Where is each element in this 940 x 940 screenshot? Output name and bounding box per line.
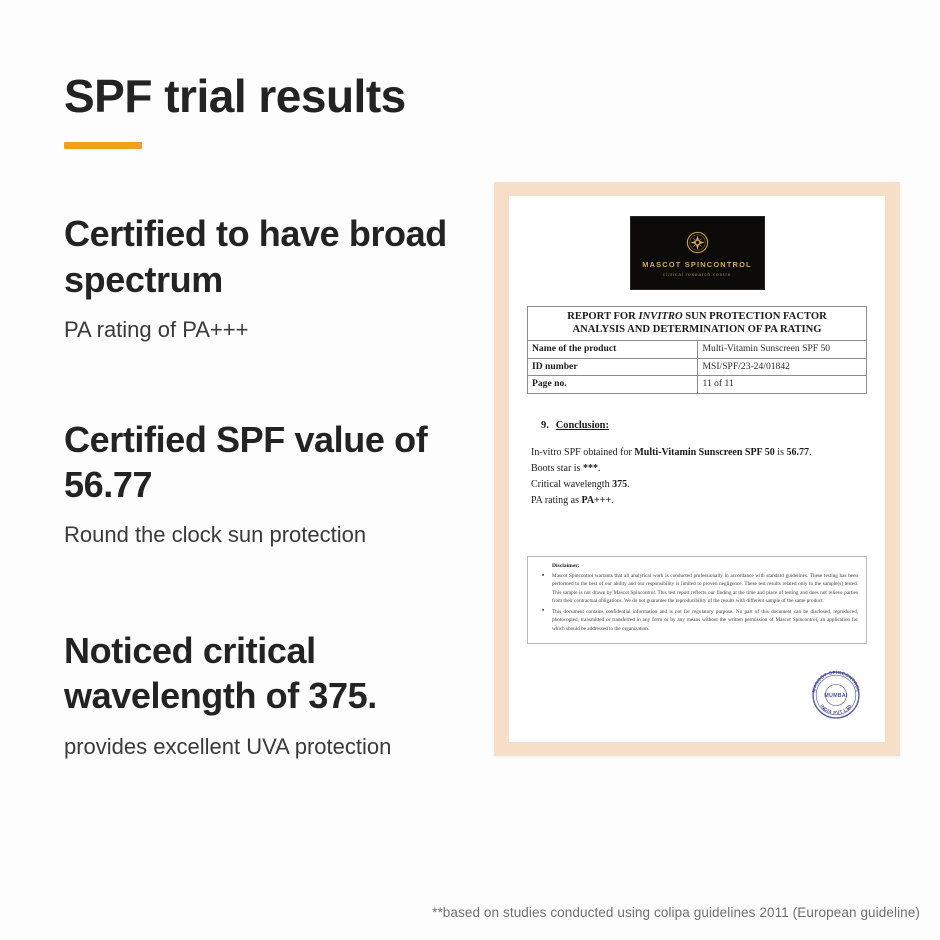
conclusion-line-boots: Boots star is ***. [531,461,867,477]
conclusion-line-wavelength: Critical wavelength 375. [531,477,867,493]
logo-name: MASCOT SPINCONTROL [642,260,751,269]
conclusion-body: In-vitro SPF obtained for Multi-Vitamin … [531,445,867,510]
report-title-line1-post: SUN PROTECTION FACTOR [683,311,827,322]
list-item: This document contains confidential info… [552,608,858,633]
conclusion-product-name: Multi-Vitamin Sunscreen SPF 50 [634,447,774,458]
conclusion-pa-end: . [611,495,614,506]
disclaimer-list: Mascot Spincontrol warrants that all ana… [536,572,858,633]
svg-text:MUMBAI: MUMBAI [824,693,848,699]
claim-subtext: Round the clock sun protection [64,521,484,550]
conclusion-boots-end: . [598,463,601,474]
mascot-emblem-icon [684,229,711,256]
report-header-table: REPORT FOR INVITRO SUN PROTECTION FACTOR… [527,306,867,394]
table-row: Page no. 11 of 11 [528,376,867,393]
accent-underline-bar [64,142,142,149]
logo-box: MASCOT SPINCONTROL clinical research cen… [630,216,765,290]
claim-subtext: PA rating of PA+++ [64,316,484,345]
report-title-line2: ANALYSIS AND DETERMINATION OF PA RATING [572,324,821,335]
conclusion-line-spf-mid: is [775,447,787,458]
conclusion-boots-pre: Boots star is [531,463,583,474]
claim-subtext: provides excellent UVA protection [64,733,484,762]
certificate-image: MASCOT SPINCONTROL clinical research cen… [494,182,900,756]
conclusion-line-spf-pre: In-vitro SPF obtained for [531,447,634,458]
claim-block-critical-wavelength: Noticed critical wavelength of 375. prov… [64,628,484,761]
certificate-page: MASCOT SPINCONTROL clinical research cen… [509,196,885,742]
claim-block-broad-spectrum: Certified to have broad spectrum PA rati… [64,211,484,344]
row-label: Page no. [528,376,698,393]
table-row: ID number MSI/SPF/23-24/01842 [528,358,867,375]
conclusion-label: Conclusion: [556,420,609,431]
svg-text:MASCOT SPINCONTROL: MASCOT SPINCONTROL [811,670,861,693]
row-label: Name of the product [528,341,698,358]
row-value: Multi-Vitamin Sunscreen SPF 50 [697,341,867,358]
conclusion-boots-value: *** [583,463,598,474]
conclusion-heading: 9.Conclusion: [541,420,867,431]
claim-block-spf-value: Certified SPF value of 56.77 Round the c… [64,417,484,550]
table-row-title: REPORT FOR INVITRO SUN PROTECTION FACTOR… [528,307,867,341]
page-title: SPF trial results [64,72,484,120]
conclusion-number: 9. [541,420,549,431]
list-item: Mascot Spincontrol warrants that all ana… [552,572,858,606]
row-value: 11 of 11 [697,376,867,393]
conclusion-wavelength-end: . [627,479,630,490]
company-seal-stamp-icon: MASCOT SPINCONTROL INDIA PVT LTD MUMBAI [805,664,867,726]
footnote-disclaimer: **based on studies conducted using colip… [432,905,920,920]
report-title-cell: REPORT FOR INVITRO SUN PROTECTION FACTOR… [528,307,867,341]
row-value: MSI/SPF/23-24/01842 [697,358,867,375]
conclusion-pa-pre: PA rating as [531,495,581,506]
conclusion-pa-value: PA+++ [581,495,611,506]
report-title-line1-pre: REPORT FOR [567,311,638,322]
disclaimer-box: Disclaimer: Mascot Spincontrol warrants … [527,556,867,644]
claim-heading: Certified to have broad spectrum [64,211,464,302]
disclaimer-title: Disclaimer: [552,563,858,569]
content-column: SPF trial results Certified to have broa… [64,72,484,761]
claim-heading: Certified SPF value of 56.77 [64,417,464,508]
conclusion-line-spf-end: . [809,447,812,458]
claim-heading: Noticed critical wavelength of 375. [64,628,464,719]
slide-canvas: SPF trial results Certified to have broa… [0,0,940,940]
table-row: Name of the product Multi-Vitamin Sunscr… [528,341,867,358]
logo-tagline: clinical research centre [663,272,732,277]
lab-logo: MASCOT SPINCONTROL clinical research cen… [527,216,867,290]
conclusion-spf-value: 56.77 [786,447,809,458]
report-title-italic: INVITRO [638,311,682,322]
row-label: ID number [528,358,698,375]
conclusion-line-spf: In-vitro SPF obtained for Multi-Vitamin … [531,445,867,461]
conclusion-line-pa: PA rating as PA+++. [531,493,867,509]
conclusion-wavelength-pre: Critical wavelength [531,479,612,490]
conclusion-wavelength-value: 375 [612,479,627,490]
